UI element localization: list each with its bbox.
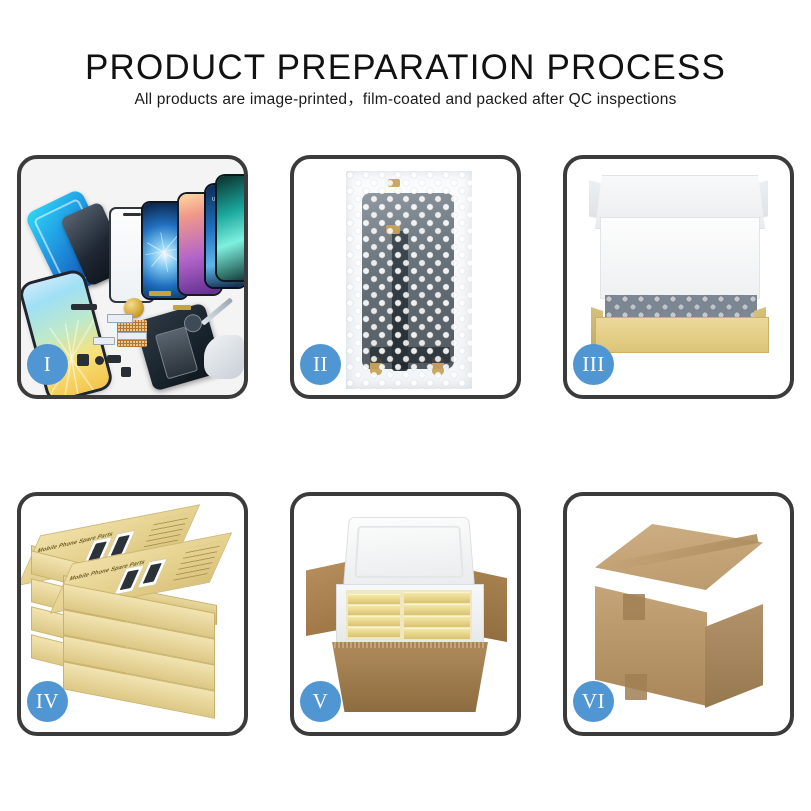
step-panel-5: V — [290, 492, 521, 736]
step-panel-1: 08:08 — [17, 155, 248, 399]
battery-part — [155, 326, 198, 379]
step-badge-3: III — [573, 344, 614, 385]
step-panel-3: III — [563, 155, 794, 399]
carton-side-face — [705, 604, 763, 708]
box-spec-lines — [173, 541, 222, 580]
teal-flagship-phone — [217, 176, 244, 280]
step-panel-2: II — [290, 155, 521, 399]
flex-cable-3 — [107, 314, 133, 323]
inner-box-bar — [404, 592, 470, 603]
flex-cable-4 — [117, 332, 147, 340]
bubble-texture-overlay — [346, 171, 472, 389]
box-stack: Mobile Phone Spare Parts — [29, 514, 239, 714]
flex-cable-5 — [93, 337, 115, 345]
flex-cable-2 — [173, 305, 191, 310]
inner-box-bar — [404, 616, 470, 627]
carton-corrugated-edge — [334, 642, 486, 648]
step-panel-6: VI — [563, 492, 794, 736]
inner-box-bar — [348, 605, 400, 615]
vibration-motor — [95, 356, 104, 365]
bubble-wrap-bag — [346, 171, 472, 389]
inner-box-bar — [348, 616, 400, 626]
kraft-inner-box — [595, 317, 769, 353]
connector-chip-4 — [121, 367, 131, 377]
carton-front-face — [595, 586, 707, 706]
inner-box-bar — [348, 627, 400, 637]
process-steps-grid: 08:08 — [0, 0, 811, 811]
inner-box-bar — [404, 604, 470, 615]
step-badge-4: IV — [27, 681, 68, 722]
connector-chip-3 — [107, 355, 121, 363]
step-badge-6: VI — [573, 681, 614, 722]
tape-strip-lower — [625, 674, 647, 700]
hand-holding-part — [204, 335, 244, 379]
step-badge-1: I — [27, 344, 68, 385]
inner-box-bar — [404, 628, 470, 639]
step-panel-4: Mobile Phone Spare Parts — [17, 492, 248, 736]
inner-boxes-group — [346, 590, 472, 640]
product-preparation-infographic: PRODUCT PREPARATION PROCESS All products… — [0, 0, 811, 811]
white-foam-sheet — [600, 217, 760, 299]
connector-chip-1 — [71, 304, 97, 310]
flex-cable-1 — [149, 291, 171, 296]
tape-strip-upper — [623, 594, 645, 620]
inner-box-bar — [348, 594, 400, 604]
connector-chip-2 — [77, 354, 89, 366]
step-badge-5: V — [300, 681, 341, 722]
step-badge-2: II — [300, 344, 341, 385]
carton-front-wall — [332, 642, 488, 712]
foam-lid — [343, 517, 475, 588]
